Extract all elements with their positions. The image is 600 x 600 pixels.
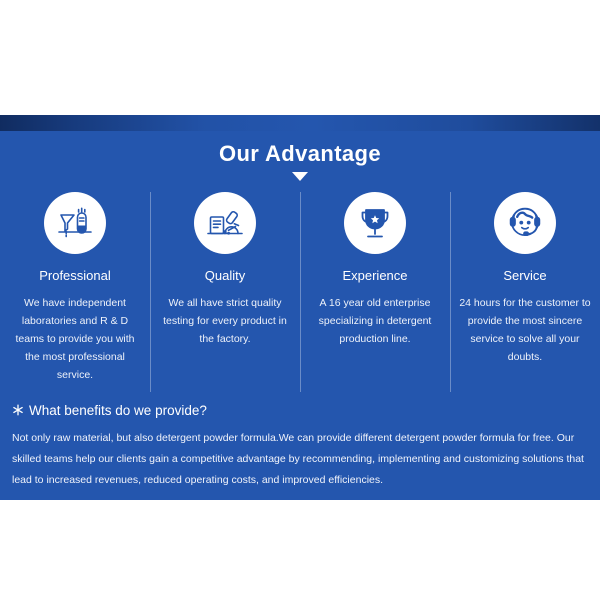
panel-top-shadow: [0, 115, 600, 131]
benefits-block: What benefits do we provide? Not only ra…: [12, 402, 590, 491]
feature-description-professional: We have independent laboratories and R &…: [8, 294, 142, 384]
feature-column-experience: Experience A 16 year old enterprise spec…: [300, 192, 450, 384]
feature-title-professional: Professional: [8, 268, 142, 284]
microscope-document-icon: [204, 202, 246, 244]
feature-column-professional: Professional We have independent laborat…: [0, 192, 150, 384]
feature-title-experience: Experience: [308, 268, 442, 284]
asterisk-star-icon: [12, 403, 24, 421]
feature-badge-professional: [44, 192, 106, 254]
feature-title-quality: Quality: [158, 268, 292, 284]
benefits-heading-text: What benefits do we provide?: [29, 403, 207, 418]
feature-description-service: 24 hours for the customer to provide the…: [458, 294, 592, 366]
feature-title-service: Service: [458, 268, 592, 284]
our-advantage-panel: Our Advantage Professional: [0, 115, 600, 500]
benefits-body-text: Not only raw material, but also detergen…: [12, 428, 590, 491]
feature-column-quality: Quality We all have strict quality testi…: [150, 192, 300, 384]
triangle-down-icon: [292, 172, 308, 181]
features-row: Professional We have independent laborat…: [0, 192, 600, 384]
feature-column-service: Service 24 hours for the customer to pro…: [450, 192, 600, 384]
trophy-icon: [355, 203, 395, 243]
feature-badge-service: [494, 192, 556, 254]
page-title: Our Advantage: [0, 141, 600, 167]
feature-description-experience: A 16 year old enterprise specializing in…: [308, 294, 442, 348]
headset-support-icon: [504, 202, 546, 244]
panel-heading-block: Our Advantage: [0, 141, 600, 181]
benefits-heading: What benefits do we provide?: [12, 402, 590, 421]
feature-description-quality: We all have strict quality testing for e…: [158, 294, 292, 348]
test-tube-funnel-icon: [54, 202, 96, 244]
feature-badge-quality: [194, 192, 256, 254]
feature-badge-experience: [344, 192, 406, 254]
